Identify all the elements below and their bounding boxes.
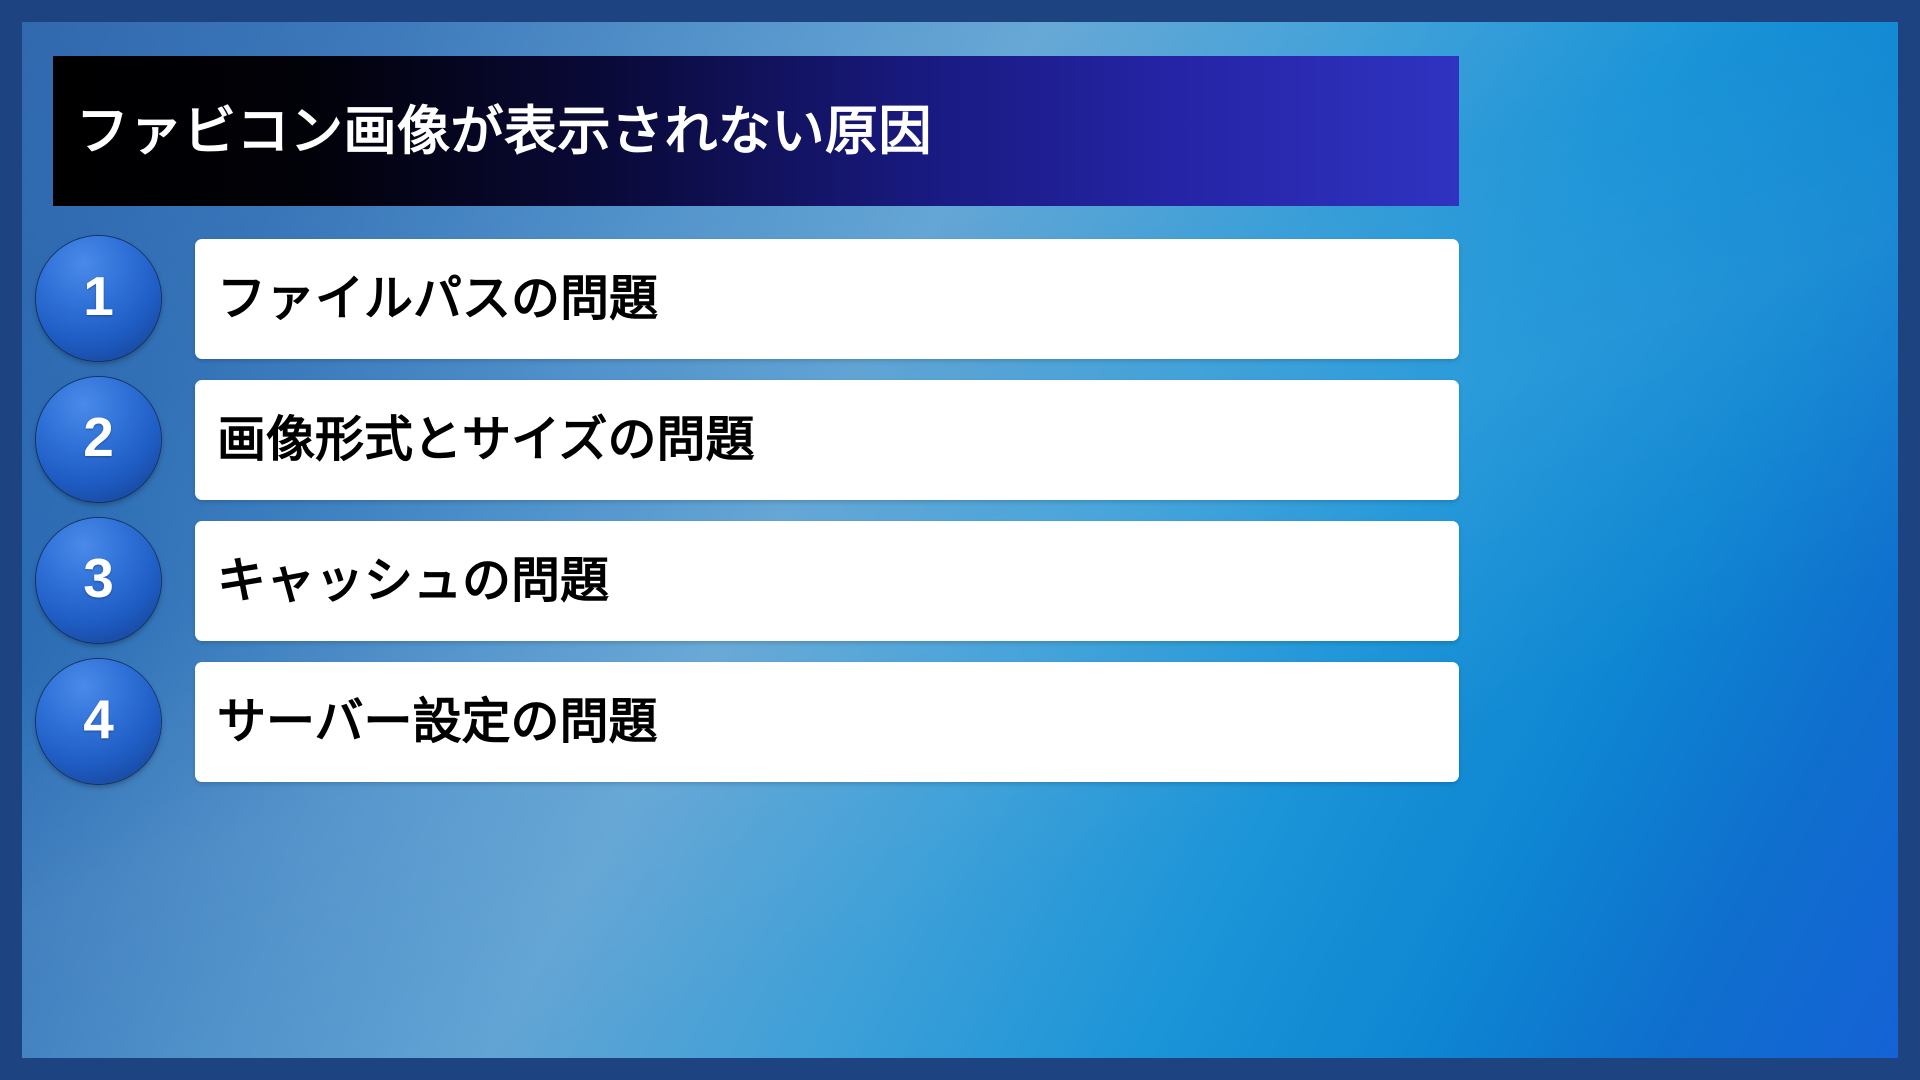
list-item[interactable]: 3 キャッシュの問題 bbox=[0, 518, 1876, 643]
page-title: ファビコン画像が表示されない原因 bbox=[76, 105, 932, 158]
list-item-card[interactable]: サーバー設定の問題 bbox=[195, 662, 1459, 782]
slide-title-bar: ファビコン画像が表示されない原因 bbox=[53, 56, 1459, 206]
list-item-card[interactable]: ファイルパスの問題 bbox=[195, 239, 1459, 359]
slide-root: ファビコン画像が表示されない原因 1 ファイルパスの問題 2 画像形式とサイズの… bbox=[0, 0, 1920, 1080]
list-item-label: サーバー設定の問題 bbox=[217, 698, 658, 747]
list-item-number-badge: 3 bbox=[36, 518, 161, 643]
numbered-list: 1 ファイルパスの問題 2 画像形式とサイズの問題 3 キャッシュの問題 bbox=[0, 236, 1876, 784]
list-item-label: 画像形式とサイズの問題 bbox=[217, 416, 755, 465]
list-item-card[interactable]: キャッシュの問題 bbox=[195, 521, 1459, 641]
list-item-number: 1 bbox=[83, 269, 114, 324]
list-item-label: キャッシュの問題 bbox=[217, 557, 609, 606]
list-item-card[interactable]: 画像形式とサイズの問題 bbox=[195, 380, 1459, 500]
list-item-number-badge: 2 bbox=[36, 377, 161, 502]
list-item-label: ファイルパスの問題 bbox=[217, 275, 658, 324]
list-item[interactable]: 4 サーバー設定の問題 bbox=[0, 659, 1876, 784]
list-item-number-badge: 4 bbox=[36, 659, 161, 784]
list-item-number: 2 bbox=[83, 410, 114, 465]
list-item[interactable]: 1 ファイルパスの問題 bbox=[0, 236, 1876, 361]
list-item-number: 4 bbox=[83, 692, 114, 747]
list-item[interactable]: 2 画像形式とサイズの問題 bbox=[0, 377, 1876, 502]
list-item-number-badge: 1 bbox=[36, 236, 161, 361]
list-item-number: 3 bbox=[83, 551, 114, 606]
